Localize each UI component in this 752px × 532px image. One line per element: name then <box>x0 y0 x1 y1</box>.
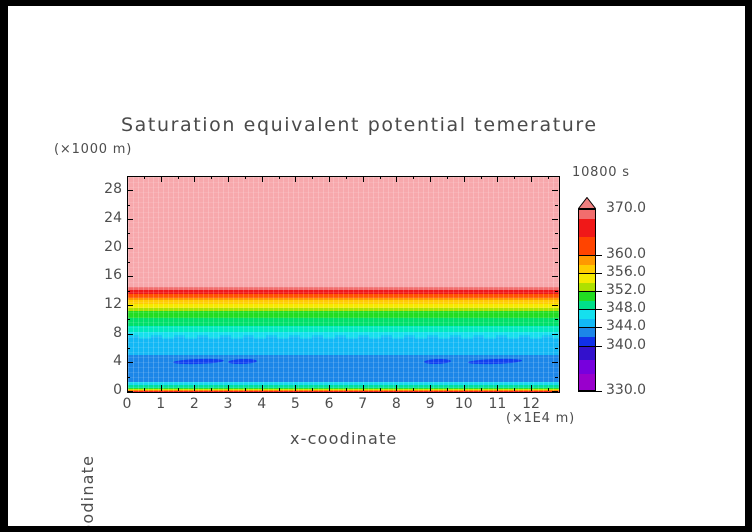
x-axis-tick <box>295 176 296 182</box>
x-axis-tick <box>430 385 431 391</box>
x-axis-tick <box>464 176 465 182</box>
plot-area <box>127 176 560 393</box>
x-tick-label: 0 <box>112 396 142 412</box>
colorbar-body <box>578 209 596 391</box>
colorbar-tick-label: 348.0 <box>606 300 646 316</box>
x-axis-tick <box>279 176 280 179</box>
y-axis-tick <box>552 334 558 335</box>
colorbar-segment <box>579 256 595 265</box>
x-axis-tick <box>413 388 414 391</box>
colorbar-tick-label: 344.0 <box>606 318 646 334</box>
colorbar-segment <box>579 219 595 237</box>
y-tick-label: 12 <box>88 296 122 312</box>
x-axis-tick <box>346 388 347 391</box>
y-axis-tick <box>127 305 133 306</box>
x-axis-tick <box>262 385 263 391</box>
y-axis-tick <box>552 248 558 249</box>
y-tick-label: 20 <box>88 239 122 255</box>
heatmap-layer <box>128 337 559 356</box>
x-axis-tick <box>228 176 229 182</box>
x-axis-tick <box>194 385 195 391</box>
y-axis-unit-label: (×1000 m) <box>54 142 132 157</box>
x-axis-tick <box>329 385 330 391</box>
colorbar-tick <box>578 391 602 392</box>
x-axis-tick <box>211 388 212 391</box>
x-axis-tick <box>228 385 229 391</box>
x-tick-label: 6 <box>314 396 344 412</box>
x-axis-tick <box>514 388 515 391</box>
x-axis-tick <box>312 388 313 391</box>
x-axis-tick <box>178 176 179 179</box>
x-axis-tick <box>279 388 280 391</box>
x-axis-tick <box>481 388 482 391</box>
x-axis-tick <box>464 385 465 391</box>
heatmap-layer <box>128 177 559 288</box>
x-axis-tick <box>447 176 448 179</box>
x-axis-tick <box>295 385 296 391</box>
colorbar-segment <box>579 310 595 319</box>
y-axis-tick <box>127 362 133 363</box>
y-axis-title: z-coodinate <box>78 443 97 526</box>
x-axis-tick <box>262 176 263 182</box>
colorbar-tick-label: 360.0 <box>606 246 646 262</box>
colorbar-tick-label: 370.0 <box>606 200 646 216</box>
y-axis-tick <box>127 377 130 378</box>
y-axis-tick <box>552 276 558 277</box>
y-tick-label: 8 <box>88 325 122 341</box>
x-tick-label: 2 <box>179 396 209 412</box>
y-axis-tick <box>127 319 130 320</box>
x-axis-tick <box>312 176 313 179</box>
y-axis-tick <box>555 262 558 263</box>
x-axis-tick <box>178 388 179 391</box>
y-axis-tick <box>555 233 558 234</box>
x-axis-tick <box>161 176 162 182</box>
x-tick-label: 7 <box>348 396 378 412</box>
colorbar-tick <box>578 346 602 347</box>
y-axis-tick <box>127 334 133 335</box>
x-axis-tick <box>380 388 381 391</box>
y-tick-label: 0 <box>88 382 122 398</box>
x-axis-tick <box>363 385 364 391</box>
x-axis-tick <box>396 176 397 182</box>
x-axis-tick <box>346 176 347 179</box>
colorbar-segment <box>579 274 595 283</box>
y-axis-tick <box>555 205 558 206</box>
x-tick-label: 11 <box>482 396 512 412</box>
x-axis-tick <box>363 176 364 182</box>
y-axis-tick <box>127 233 130 234</box>
colorbar-segment <box>579 210 595 219</box>
x-axis-tick <box>380 176 381 179</box>
x-axis-tick <box>514 176 515 179</box>
heatmap-field <box>128 177 559 392</box>
y-axis-tick <box>127 391 133 392</box>
colorbar-segment <box>579 237 595 255</box>
colorbar-arrow-outline-icon <box>578 197 596 209</box>
y-axis-tick <box>552 362 558 363</box>
colorbar-segment <box>579 374 595 391</box>
colorbar-tick <box>578 273 602 274</box>
y-tick-label: 24 <box>88 210 122 226</box>
x-axis-tick <box>396 385 397 391</box>
y-axis-tick <box>127 190 133 191</box>
x-axis-tick <box>144 176 145 179</box>
x-axis-tick <box>413 176 414 179</box>
x-tick-label: 10 <box>449 396 479 412</box>
colorbar-tick <box>578 255 602 256</box>
x-axis-tick <box>211 176 212 179</box>
y-axis-tick <box>555 348 558 349</box>
x-axis-tick <box>481 176 482 179</box>
x-axis-title: x-coodinate <box>290 429 397 448</box>
y-axis-tick <box>552 391 558 392</box>
layer-interface-undulation <box>128 335 559 339</box>
colorbar-tick-label: 330.0 <box>606 382 646 398</box>
y-axis-tick <box>127 262 130 263</box>
y-axis-tick <box>127 219 133 220</box>
y-axis-tick <box>127 248 133 249</box>
y-axis-tick <box>552 190 558 191</box>
colorbar-tick <box>578 291 602 292</box>
y-axis-tick <box>555 291 558 292</box>
x-axis-tick <box>548 388 549 391</box>
x-axis-tick <box>329 176 330 182</box>
colorbar-tick-label: 352.0 <box>606 282 646 298</box>
x-tick-label: 12 <box>516 396 546 412</box>
page-title: Saturation equivalent potential temeratu… <box>121 114 598 136</box>
heatmap-layer <box>128 391 559 393</box>
x-tick-label: 1 <box>146 396 176 412</box>
x-axis-tick <box>447 388 448 391</box>
colorbar-segment <box>579 292 595 301</box>
y-tick-label: 16 <box>88 267 122 283</box>
timestamp-label: 10800 s <box>572 165 630 180</box>
colorbar-tick-label: 340.0 <box>606 337 646 353</box>
y-axis-tick <box>127 348 130 349</box>
x-axis-tick <box>127 176 128 182</box>
x-tick-label: 4 <box>247 396 277 412</box>
x-axis-tick <box>497 385 498 391</box>
y-axis-tick <box>552 219 558 220</box>
colorbar-tick <box>578 309 602 310</box>
y-tick-label: 4 <box>88 353 122 369</box>
y-axis-tick <box>555 319 558 320</box>
y-axis-tick <box>552 305 558 306</box>
x-axis-tick <box>245 388 246 391</box>
x-axis-tick <box>194 176 195 182</box>
x-tick-label: 5 <box>280 396 310 412</box>
x-axis-unit-label: (×1E4 m) <box>506 411 575 426</box>
figure-canvas: Saturation equivalent potential temeratu… <box>8 6 745 526</box>
x-axis-tick <box>144 388 145 391</box>
x-axis-tick <box>161 385 162 391</box>
x-axis-tick <box>497 176 498 182</box>
x-tick-label: 8 <box>381 396 411 412</box>
x-axis-tick <box>531 385 532 391</box>
colorbar-segment <box>579 347 595 361</box>
colorbar-segment <box>579 328 595 337</box>
x-axis-tick <box>245 176 246 179</box>
y-axis-tick <box>127 205 130 206</box>
x-axis-tick <box>430 176 431 182</box>
x-axis-tick <box>548 176 549 179</box>
y-axis-tick <box>127 291 130 292</box>
x-tick-label: 3 <box>213 396 243 412</box>
x-axis-tick <box>531 176 532 182</box>
y-tick-label: 28 <box>88 181 122 197</box>
colorbar-tick-label: 356.0 <box>606 264 646 280</box>
figure-frame: Saturation equivalent potential temeratu… <box>0 0 752 532</box>
y-axis-tick <box>127 276 133 277</box>
x-tick-label: 9 <box>415 396 445 412</box>
colorbar-segment <box>579 360 595 374</box>
y-axis-tick <box>555 377 558 378</box>
colorbar-tick <box>578 327 602 328</box>
